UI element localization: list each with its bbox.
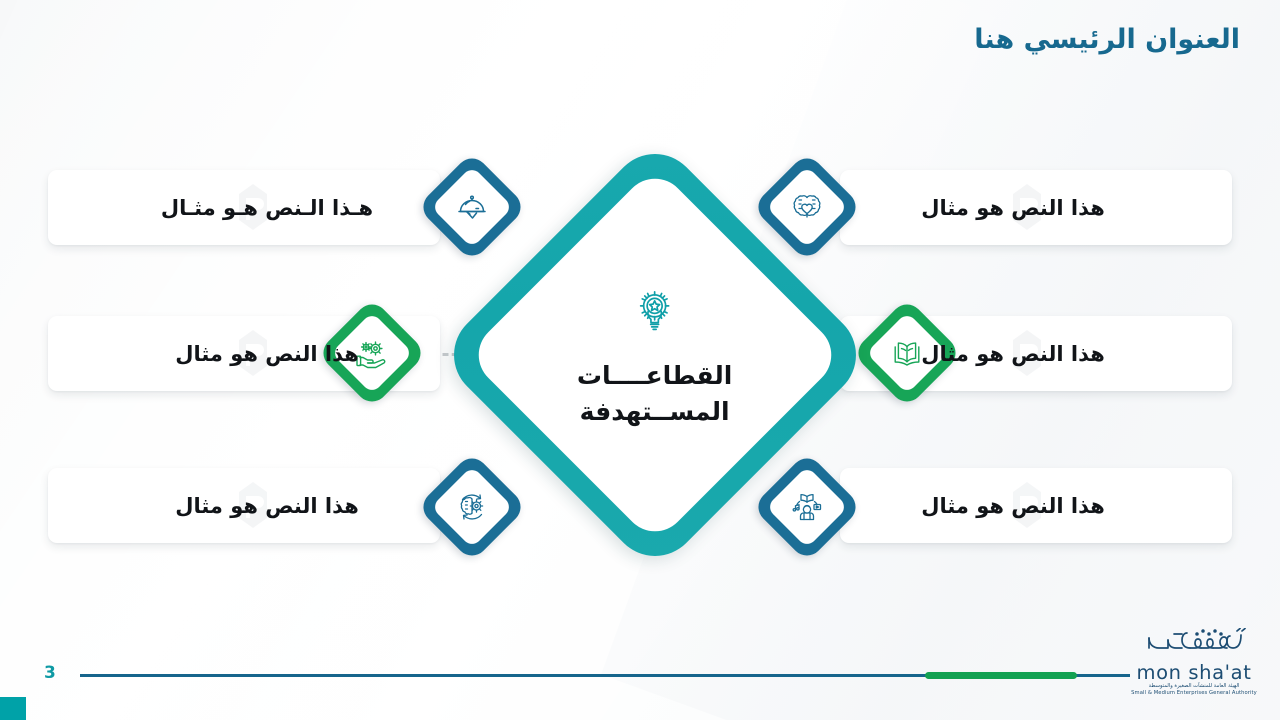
card-text: هذا النص هو مثال	[48, 494, 440, 518]
monshaat-logo: mon sha'at الهيئة العامة للمنشآت الصغيرة…	[1130, 628, 1258, 698]
food-cloche-icon	[455, 190, 489, 224]
card-top-right[interactable]: هذا النص هو مثال	[840, 170, 1232, 245]
slide: العنوان الرئيسي هنا هـذا الـنص هـو مثـال…	[0, 0, 1280, 720]
progress-indicator	[925, 672, 1077, 679]
card-text: هذا النص هو مثال	[48, 342, 440, 366]
card-text: هذا النص هو مثال	[840, 342, 1232, 366]
center-label: القطاعــــات المســتهدفة	[540, 358, 770, 429]
card-bottom-left[interactable]: هذا النص هو مثال	[48, 468, 440, 543]
logo-arabic-wordmark	[1141, 628, 1247, 662]
card-bottom-right[interactable]: هذا النص هو مثال	[840, 468, 1232, 543]
card-text: هـذا الـنص هـو مثـال	[48, 196, 440, 220]
page-title: العنوان الرئيسي هنا	[974, 24, 1240, 55]
person-media-icon	[790, 490, 824, 524]
logo-subtitle-english: Small & Medium Enterprises General Autho…	[1131, 690, 1257, 698]
brain-gear-cycle-icon	[455, 490, 489, 524]
logo-latin-wordmark: mon sha'at	[1137, 663, 1252, 683]
lightbulb-gear-star-icon	[626, 282, 684, 344]
logo-subtitle-arabic: الهيئة العامة للمنشآت الصغيرة والمتوسطة	[1149, 683, 1240, 691]
card-text: هذا النص هو مثال	[840, 494, 1232, 518]
page-number: 3	[44, 663, 56, 683]
card-top-left[interactable]: هـذا الـنص هـو مثـال	[48, 170, 440, 245]
corner-accent	[0, 697, 26, 720]
brain-heart-icon	[790, 190, 824, 224]
card-text: هذا النص هو مثال	[840, 196, 1232, 220]
